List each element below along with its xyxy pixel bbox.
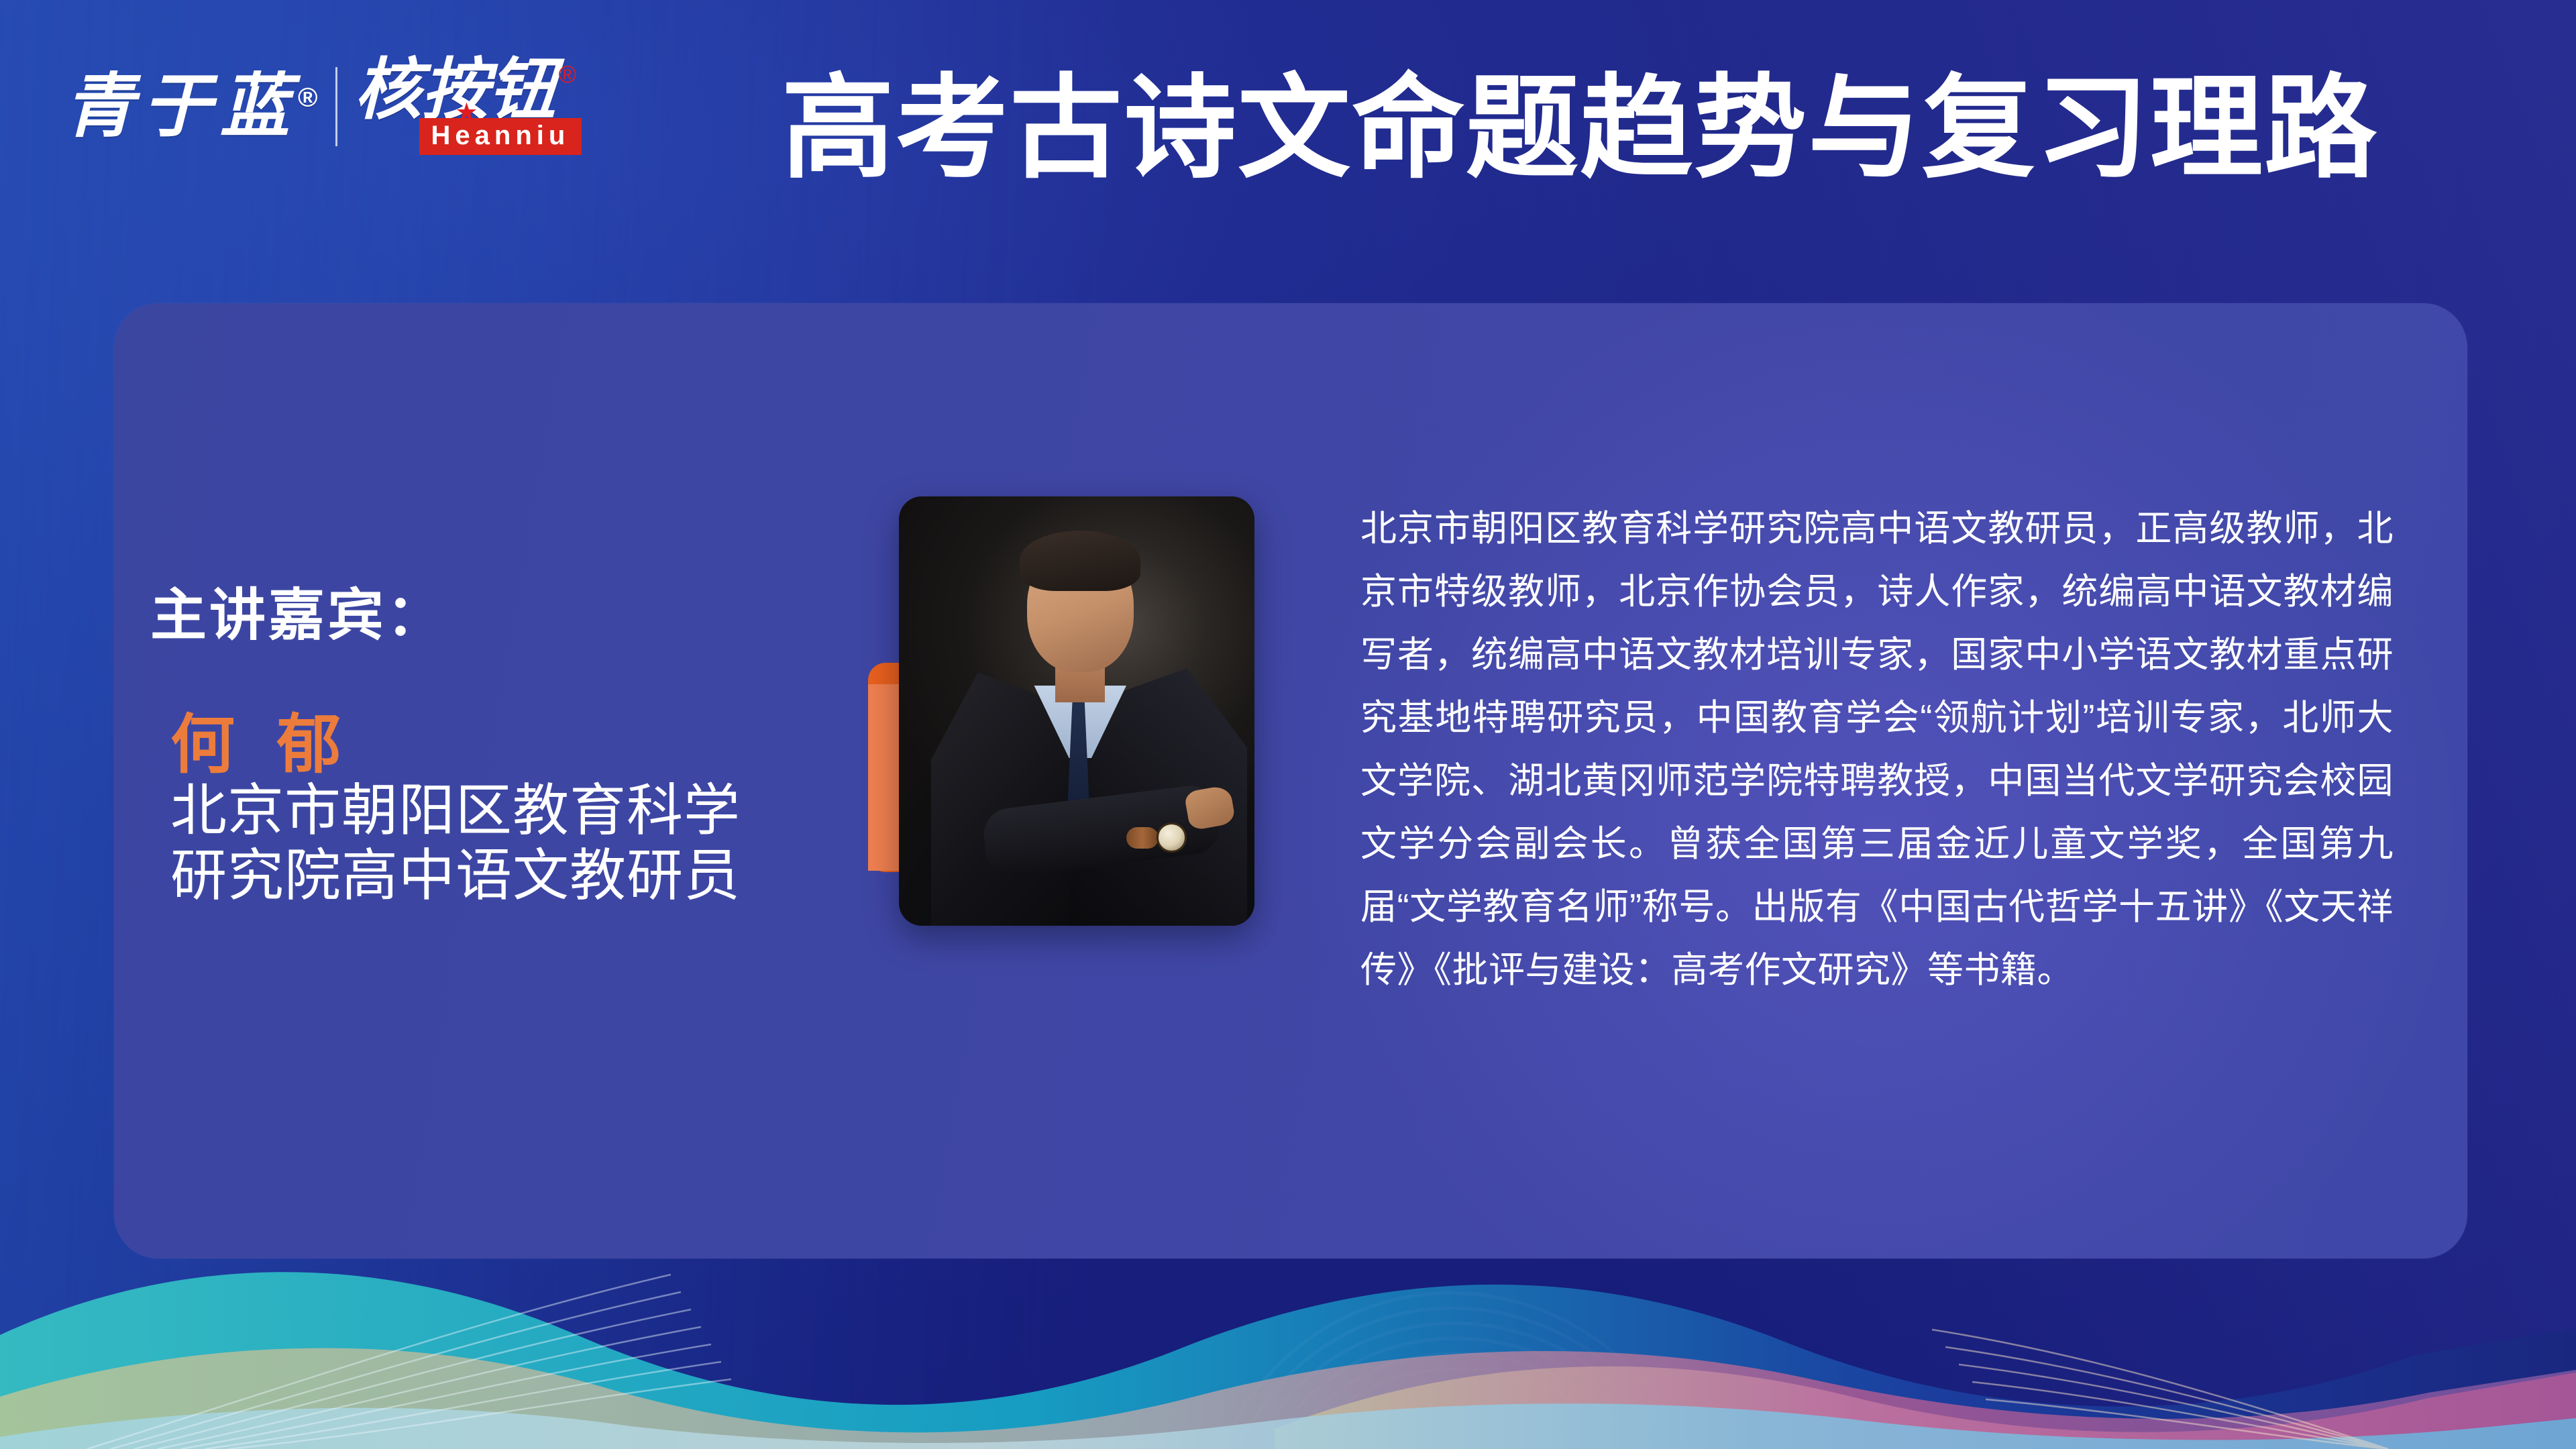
speaker-role: 北京市朝阳区教育科学研究院高中语文教研员 [170,778,741,909]
speaker-biography: 北京市朝阳区教育科学研究院高中语文教研员，正高级教师，北京市特级教师，北京作协会… [1360,498,2394,1002]
page-title: 高考古诗文命题趋势与复习理路 [782,70,2512,187]
slide-canvas: 青于蓝® 核按钮 ® ★ Heanniu 高考古诗文命题趋势与复习理路 主讲嘉宾… [0,0,2576,1449]
speaker-role-line-1: 北京市朝阳区教育科学 [170,779,741,842]
brand-logo: 青于蓝® 核按钮 ® ★ Heanniu [64,43,695,170]
registered-trademark-icon: ® [298,83,317,112]
speaker-role-line-2: 研究院高中语文教研员 [170,844,741,907]
portrait-wristwatch [1157,822,1187,852]
brand-logo-primary-label: 青于蓝 [64,68,298,146]
decorative-wave-graphic [0,1134,2576,1449]
star-icon: ★ [455,100,478,125]
brand-logo-english-label: Heanniu [419,118,582,155]
brand-logo-secondary: 核按钮 ® ★ Heanniu [355,58,582,155]
portrait-hair [1020,531,1140,591]
brand-logo-divider [335,67,337,146]
speaker-portrait-photo [899,496,1254,926]
portrait-beaded-bracelet [1126,827,1159,849]
brand-logo-secondary-row: 核按钮 ® ★ [355,58,577,122]
guest-label: 主讲嘉宾： [150,570,445,651]
speaker-name: 何 郁 [170,692,354,786]
brand-logo-primary-text: 青于蓝® [64,72,318,142]
registered-trademark-secondary-icon: ® [559,62,577,87]
